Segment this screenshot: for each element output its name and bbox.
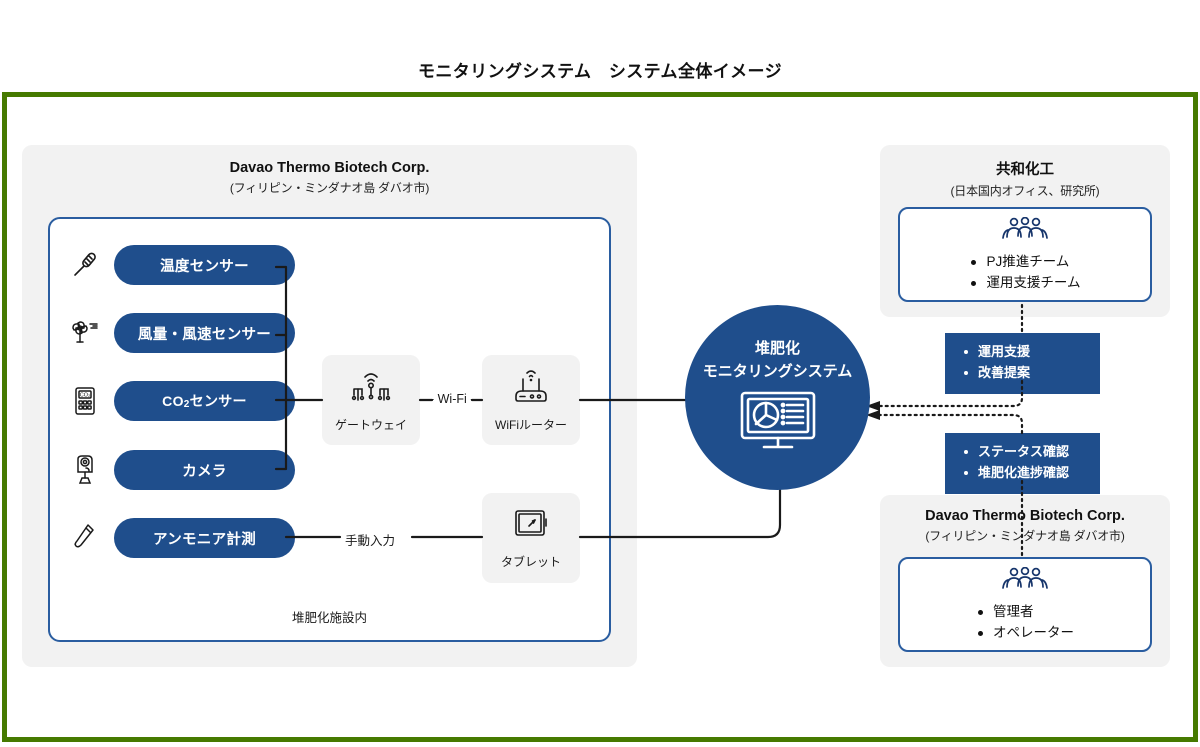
dashboard-monitor-icon (737, 390, 819, 459)
sensor-row-ammonia[interactable]: アンモニア計測 (68, 518, 295, 558)
anemometer-icon (68, 314, 102, 352)
sensor-pill-temperature[interactable]: 温度センサー (114, 245, 295, 285)
tablet-icon (509, 506, 553, 549)
org-top-member-list: PJ推進チーム 運用支援チーム (969, 252, 1080, 294)
sensor-row-co2[interactable]: CO₂ CO2センサー (68, 381, 295, 421)
manual-input-label: 手動入力 (345, 530, 395, 549)
device-tablet-label: タブレット (501, 553, 561, 570)
list-item: PJ推進チーム (969, 252, 1080, 273)
hub-title-line2: モニタリングシステム (703, 360, 853, 381)
org-bottom-subtitle: (フィリピン・ミンダナオ島 ダバオ市) (880, 527, 1170, 544)
org-bottom-box: 管理者 オペレーター (898, 557, 1152, 652)
badge-support-actions[interactable]: 運用支援 改善提案 (945, 333, 1100, 394)
org-top-box: PJ推進チーム 運用支援チーム (898, 207, 1152, 302)
sensor-pill-co2[interactable]: CO2センサー (114, 381, 295, 421)
org-top-title: 共和化工 (880, 158, 1170, 179)
org-panel-kyowa: 共和化工 (日本国内オフィス、研究所) PJ推進チーム 運用支援チーム (880, 145, 1170, 317)
device-router-label: WiFiルーター (495, 416, 567, 433)
list-item: 運用支援チーム (969, 273, 1080, 294)
org-bottom-member-list: 管理者 オペレーター (976, 602, 1074, 644)
router-icon (507, 367, 555, 412)
org-top-subtitle: (日本国内オフィス、研究所) (880, 182, 1170, 199)
device-wifi-router[interactable]: WiFiルーター (482, 355, 580, 445)
list-item: 管理者 (976, 602, 1074, 623)
sensor-pill-ammonia[interactable]: アンモニア計測 (114, 518, 295, 558)
facility-panel-title: Davao Thermo Biotech Corp. (22, 160, 637, 176)
badge-item: 堆肥化進捗確認 (963, 463, 1086, 484)
badge-item: 運用支援 (963, 342, 1086, 363)
gateway-icon (348, 367, 394, 412)
sensor-row-temperature[interactable]: 温度センサー (68, 245, 295, 285)
sensor-row-airflow[interactable]: 風量・風速センサー (68, 313, 295, 353)
monitoring-system-hub[interactable]: 堆肥化 モニタリングシステム (685, 305, 870, 490)
facility-caption: 堆肥化施設内 (50, 607, 609, 626)
svg-text:CO₂: CO₂ (80, 393, 90, 399)
sensor-pill-camera[interactable]: カメラ (114, 450, 295, 490)
device-tablet[interactable]: タブレット (482, 493, 580, 583)
badge-item: 改善提案 (963, 363, 1086, 384)
device-gateway-label: ゲートウェイ (335, 416, 407, 433)
people-group-icon (997, 567, 1053, 598)
co2-meter-icon: CO₂ (68, 382, 102, 420)
org-bottom-title: Davao Thermo Biotech Corp. (880, 508, 1170, 524)
hub-title-line1: 堆肥化 (755, 337, 800, 358)
facility-panel-subtitle: (フィリピン・ミンダナオ島 ダバオ市) (22, 179, 637, 196)
badge-item: ステータス確認 (963, 442, 1086, 463)
thermometer-icon (68, 246, 102, 284)
wifi-link-label: - Wi-Fi - (430, 392, 474, 406)
device-gateway[interactable]: ゲートウェイ (322, 355, 420, 445)
people-group-icon (997, 217, 1053, 248)
sensor-row-camera[interactable]: カメラ (68, 450, 295, 490)
badge-status-actions[interactable]: ステータス確認 堆肥化進捗確認 (945, 433, 1100, 494)
list-item: オペレーター (976, 623, 1074, 644)
camera-icon (68, 451, 102, 489)
page-title: モニタリングシステム システム全体イメージ (0, 57, 1200, 82)
org-panel-davao: Davao Thermo Biotech Corp. (フィリピン・ミンダナオ島… (880, 495, 1170, 667)
test-tube-icon (68, 519, 102, 557)
sensor-pill-airflow[interactable]: 風量・風速センサー (114, 313, 295, 353)
